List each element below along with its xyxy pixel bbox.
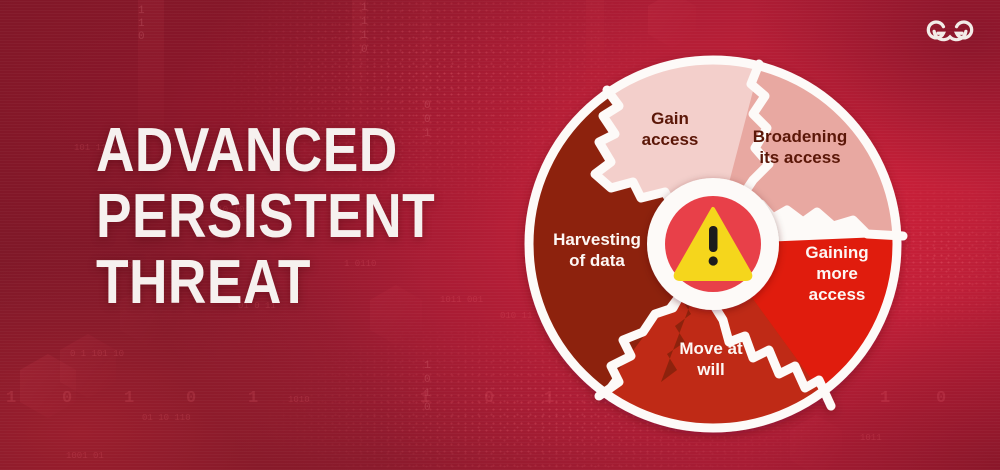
page-title-line-2: PERSISTENT bbox=[96, 184, 457, 250]
geeksforgeeks-logo[interactable] bbox=[922, 12, 978, 46]
infographic-canvas: 101 1101 110 10 10 1001 01 0 11 1 0110 1… bbox=[0, 0, 1000, 470]
wheel-center-hub[interactable] bbox=[647, 178, 779, 310]
page-title-line-3: THREAT bbox=[96, 250, 457, 316]
page-title-line-1: ADVANCED bbox=[96, 118, 457, 184]
apt-lifecycle-wheel: Gain access Broadening its access Gainin… bbox=[515, 46, 911, 442]
page-title: ADVANCED PERSISTENT THREAT bbox=[96, 118, 457, 316]
